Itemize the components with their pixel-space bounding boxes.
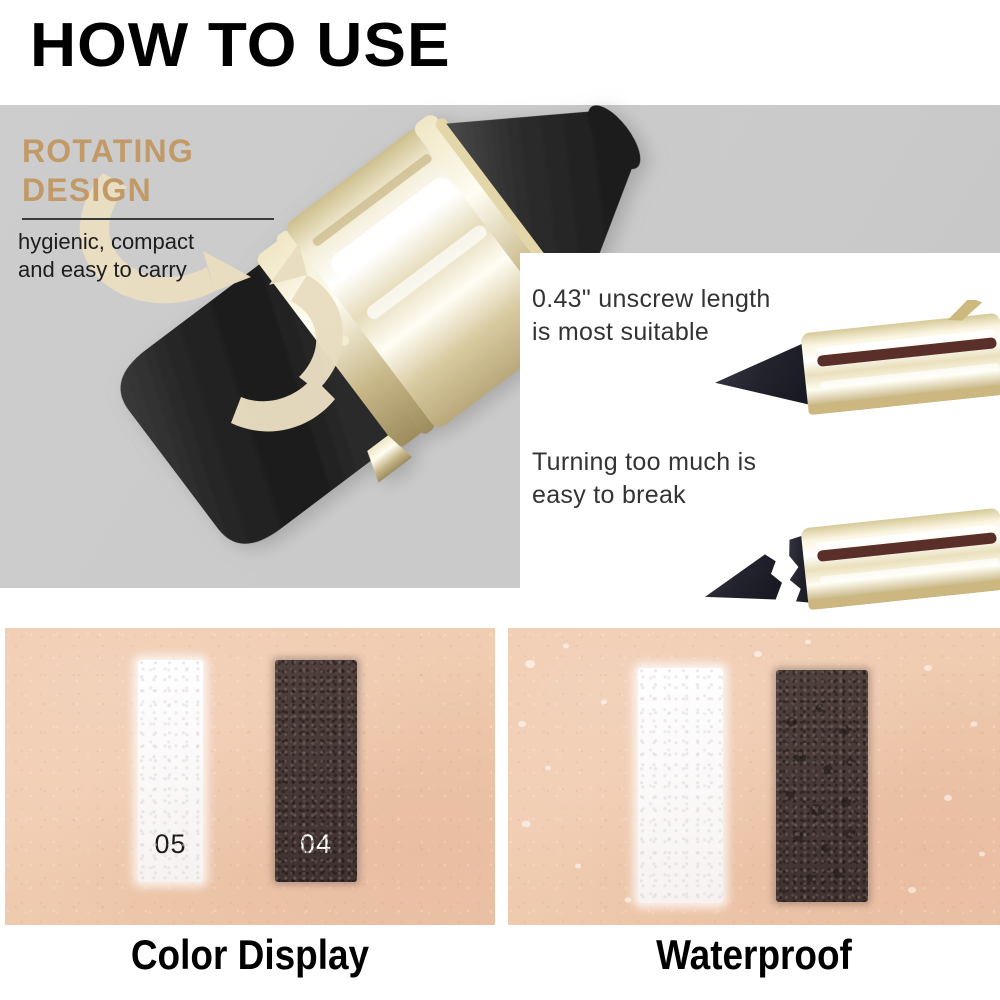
feature-subtitle: hygienic, compact and easy to carry	[18, 228, 194, 284]
panel-caption-color-display: Color Display	[34, 931, 465, 986]
water-droplets-icon	[508, 628, 1000, 925]
feature-subtitle-line1: hygienic, compact	[18, 228, 194, 256]
infographic-page: HOW TO USE	[0, 0, 1000, 1000]
feature-subtitle-line2: and easy to carry	[18, 256, 194, 284]
pencil-broken-illustration	[700, 495, 1000, 625]
swatch-white-label: 05	[138, 829, 203, 860]
panel-caption-waterproof: Waterproof	[538, 931, 971, 986]
divider-rule	[22, 218, 274, 220]
swatch-dark: 04	[275, 660, 357, 882]
feature-title: ROTATING DESIGN	[22, 132, 194, 210]
feature-title-line2: DESIGN	[22, 171, 194, 210]
skin-background	[5, 628, 495, 925]
feature-title-line1: ROTATING	[22, 132, 194, 171]
swatch-white	[638, 668, 723, 903]
swatch-dark	[776, 670, 868, 902]
swatch-white: 05	[138, 660, 203, 882]
color-display-photo: 05 04	[5, 628, 495, 925]
droplets-on-dark-swatch-icon	[776, 670, 868, 902]
waterproof-photo	[508, 628, 1000, 925]
pencil-intact-illustration	[700, 300, 1000, 430]
swatch-dark-label: 04	[275, 829, 357, 860]
hero-panel-extension	[720, 105, 1000, 255]
callout-bad-line1: Turning too much is	[532, 446, 756, 479]
page-title: HOW TO USE	[30, 10, 451, 81]
